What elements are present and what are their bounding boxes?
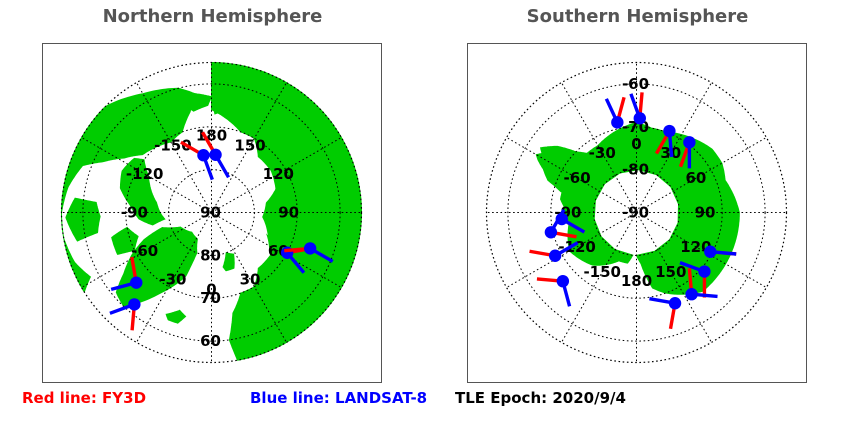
svg-text:180: 180 xyxy=(196,126,227,144)
svg-text:-30: -30 xyxy=(159,270,186,288)
svg-text:60: 60 xyxy=(200,332,221,350)
southern-polar-map: 0306090120150180-150-120-90-60-30-60-70-… xyxy=(468,44,805,381)
legend-tle-epoch: TLE Epoch: 2020/9/4 xyxy=(455,389,626,407)
svg-text:70: 70 xyxy=(200,289,221,307)
svg-text:-90: -90 xyxy=(121,204,148,222)
panel-southern-hemisphere: Southern Hemisphere 0306090120150180-150… xyxy=(425,0,850,425)
legend-red-line-fy3d: Red line: FY3D xyxy=(22,389,146,407)
svg-text:90: 90 xyxy=(695,204,716,222)
svg-text:-30: -30 xyxy=(589,144,616,162)
svg-text:150: 150 xyxy=(234,137,265,155)
satellite-marker-dot xyxy=(209,149,221,161)
satellite-marker-dot xyxy=(683,136,695,148)
satellite-marker-dot xyxy=(634,112,646,124)
svg-text:30: 30 xyxy=(240,270,261,288)
svg-text:-120: -120 xyxy=(558,238,596,256)
satellite-marker-dot xyxy=(128,298,140,310)
northern-panel-title: Northern Hemisphere xyxy=(0,6,425,27)
chart-legend: Red line: FY3D Blue line: LANDSAT-8 TLE … xyxy=(0,389,850,415)
svg-text:60: 60 xyxy=(685,169,706,187)
svg-text:120: 120 xyxy=(263,165,294,183)
svg-text:80: 80 xyxy=(200,246,221,264)
svg-text:-90: -90 xyxy=(622,204,649,222)
northern-polar-map: 0306090120150180-150-120-90-60-309080706… xyxy=(43,44,380,381)
svg-text:90: 90 xyxy=(278,204,299,222)
satellite-marker-dot xyxy=(545,226,557,238)
svg-text:-60: -60 xyxy=(622,75,649,93)
satellite-marker-dot xyxy=(304,242,316,254)
svg-text:-80: -80 xyxy=(622,161,649,179)
panel-northern-hemisphere: Northern Hemisphere 0306090120150180-150… xyxy=(0,0,425,425)
svg-text:-120: -120 xyxy=(126,165,164,183)
southern-panel-title: Southern Hemisphere xyxy=(425,6,850,27)
svg-text:90: 90 xyxy=(200,204,221,222)
svg-text:-150: -150 xyxy=(583,263,621,281)
satellite-marker-dot xyxy=(611,116,623,128)
satellite-marker-dot xyxy=(704,246,716,258)
chart-stage: Northern Hemisphere 0306090120150180-150… xyxy=(0,0,850,425)
satellite-marker-dot xyxy=(663,125,675,137)
satellite-marker-dot xyxy=(130,276,142,288)
legend-blue-line-landsat8: Blue line: LANDSAT-8 xyxy=(250,389,427,407)
svg-text:-60: -60 xyxy=(131,242,158,260)
svg-text:150: 150 xyxy=(655,263,686,281)
svg-text:0: 0 xyxy=(631,135,641,153)
satellite-marker-dot xyxy=(685,288,697,300)
svg-text:180: 180 xyxy=(621,272,652,290)
latitude-labels: 90807060 xyxy=(200,204,221,351)
svg-text:-60: -60 xyxy=(564,169,591,187)
satellite-marker-dot xyxy=(197,149,209,161)
satellite-marker-dot xyxy=(669,297,681,309)
satellite-marker-dot xyxy=(698,265,710,277)
northern-plot-area: 0306090120150180-150-120-90-60-309080706… xyxy=(42,43,382,383)
satellite-marker-dot xyxy=(557,275,569,287)
satellite-marker-dot xyxy=(549,250,561,262)
southern-plot-area: 0306090120150180-150-120-90-60-30-60-70-… xyxy=(467,43,807,383)
